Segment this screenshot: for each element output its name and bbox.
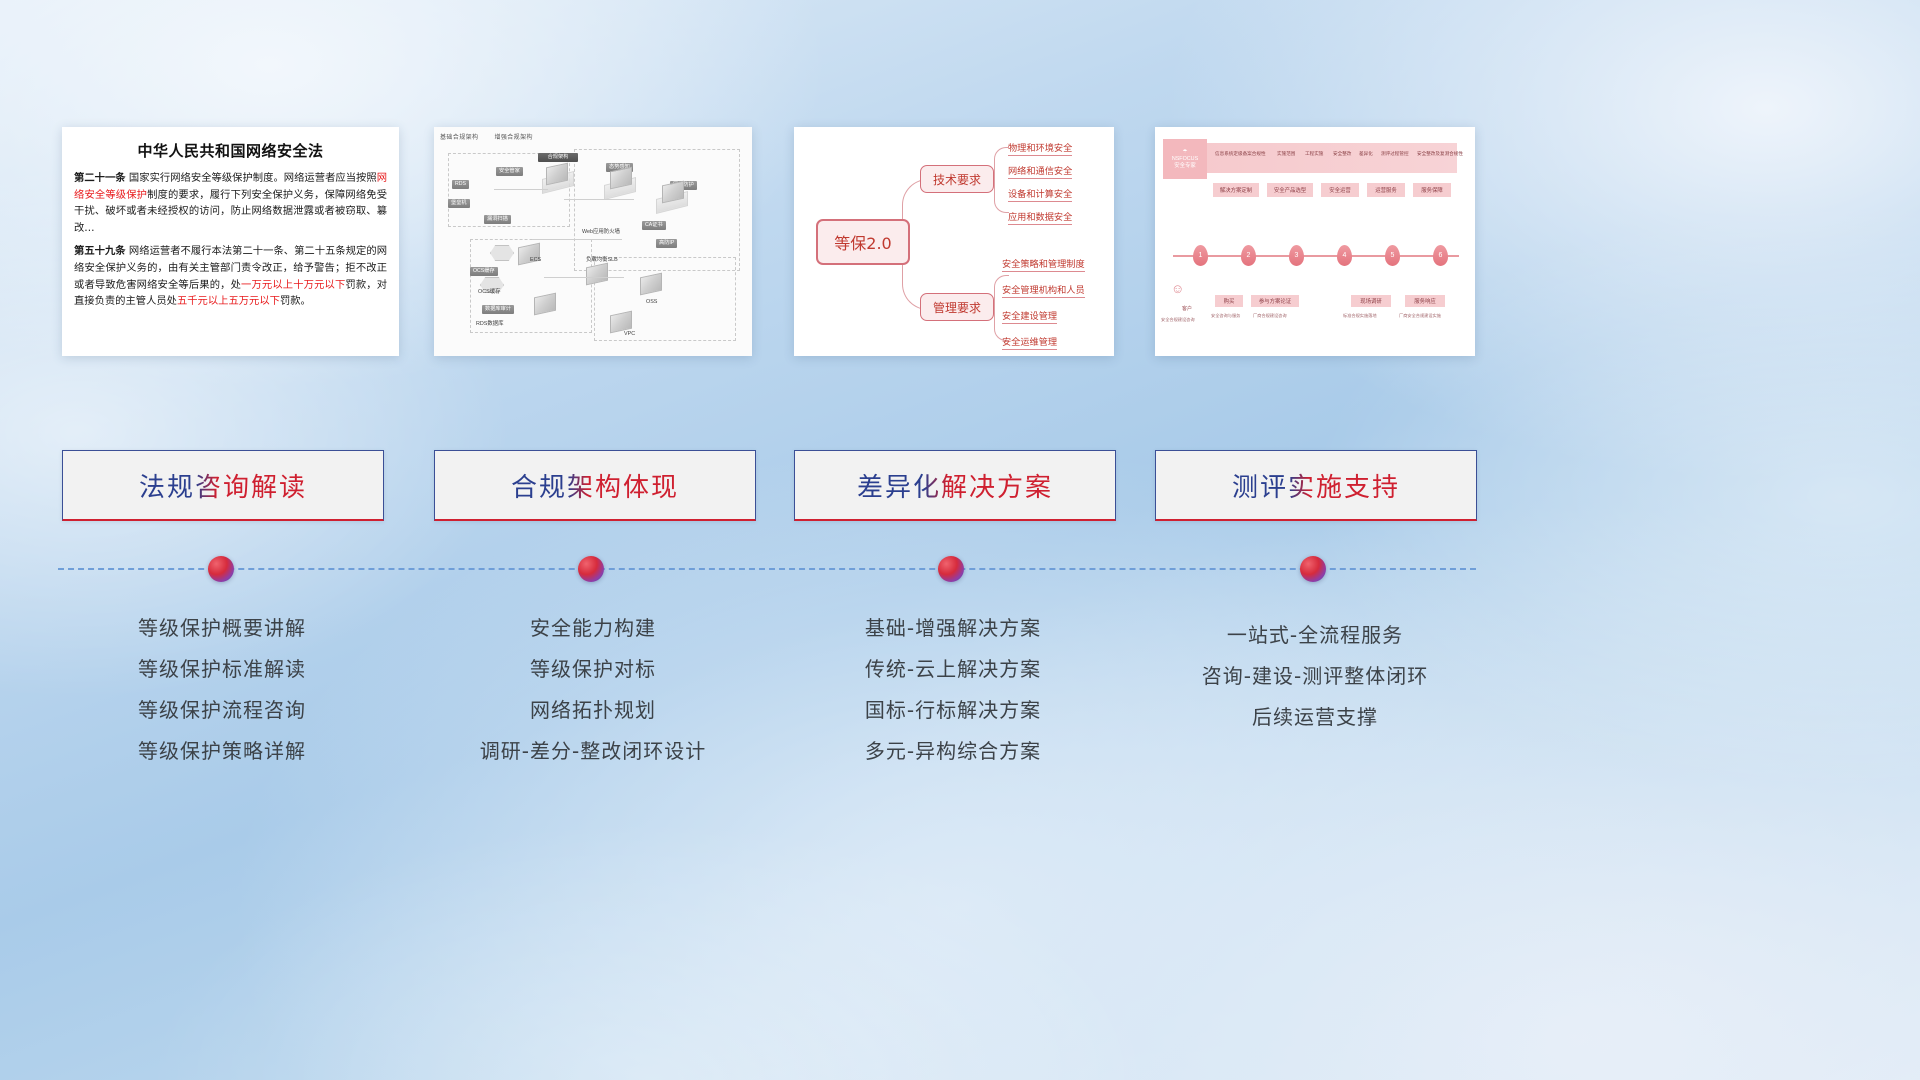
architecture-node-title: 合规架构 <box>538 153 578 162</box>
feature-list-1: 等级保护概要讲解 等级保护标准解读 等级保护流程咨询 等级保护策略详解 <box>57 608 387 772</box>
architecture-tag-1: 增强合规架构 <box>494 135 532 141</box>
header-box-1[interactable]: 法规咨询解读 <box>62 450 384 521</box>
roadmap-phase-1: 安全产品选型 <box>1267 183 1313 197</box>
list-item: 一站式-全流程服务 <box>1150 615 1480 656</box>
architecture-card: 基础合规架构 增强合规架构 合规架构 安全管家 态势感知 RDS 网络防护 堡垒… <box>434 127 752 356</box>
architecture-node-8: CA证书 <box>642 221 666 230</box>
roadmap-bottom-note-3: 厂商安全合规建设实施 <box>1399 313 1441 319</box>
roadmap-banner-item-4: 差异化 <box>1359 151 1373 157</box>
roadmap-customer-label: 客户 <box>1165 305 1209 312</box>
list-item: 基础-增强解决方案 <box>788 608 1118 649</box>
list-item: 等级保护概要讲解 <box>57 608 387 649</box>
roadmap-step-2[interactable]: 3 <box>1289 245 1304 266</box>
architecture-label-rds: RDS数据库 <box>476 319 504 327</box>
roadmap-bottom-tag-2: 现场调研 <box>1351 295 1391 307</box>
header-label-3: 差异化解决方案 <box>857 467 1053 504</box>
architecture-tag-0: 基础合规架构 <box>440 135 478 141</box>
list-item: 网络拓扑规划 <box>428 690 758 731</box>
architecture-node-4: 堡垒机 <box>448 199 470 208</box>
law-article-59-label: 第五十九条 <box>74 245 126 257</box>
roadmap-card: ☂ NSFOCUS 安全专家 信息系统定级备案合规性 实施范围 工程实施 安全整… <box>1155 127 1475 356</box>
mindmap-card: 等保2.0 技术要求 管理要求 物理和环境安全 网络和通信安全 设备和计算安全 … <box>794 127 1114 356</box>
header-label-1: 法规咨询解读 <box>139 467 307 504</box>
list-item: 咨询-建设-测评整体闭环 <box>1150 656 1480 697</box>
roadmap-step-5[interactable]: 6 <box>1433 245 1448 266</box>
roadmap-customer-note: 安全合规建设咨询 <box>1161 317 1195 323</box>
roadmap-phase-4: 服务保障 <box>1413 183 1451 197</box>
mindmap-curve-t0 <box>994 147 1009 179</box>
roadmap-banner <box>1173 143 1457 173</box>
mindmap-leaf-m2[interactable]: 安全建设管理 <box>1002 308 1057 324</box>
roadmap-step-4[interactable]: 5 <box>1385 245 1400 266</box>
architecture-link-0 <box>494 189 548 190</box>
mindmap-branch-technical[interactable]: 技术要求 <box>920 165 994 193</box>
roadmap-brand-line2: 安全专家 <box>1174 163 1196 170</box>
roadmap-banner-item-3: 安全整改 <box>1333 151 1351 157</box>
mindmap-curve-t1 <box>994 178 1009 213</box>
roadmap-bottom-tag-1: 参与方案论证 <box>1251 295 1299 307</box>
architecture-link-1 <box>564 199 634 200</box>
timeline-dot-4[interactable] <box>1300 556 1326 582</box>
architecture-node-13: 数据库审计 <box>482 305 514 314</box>
header-label-4: 测评实施支持 <box>1232 467 1400 504</box>
law-article-21-text-1: 国家实行网络安全等级保护制度。网络运营者应当按照 <box>126 172 377 184</box>
roadmap-banner-item-0: 信息系统定级备案合规性 <box>1215 151 1266 157</box>
roadmap-brand-line1: NSFOCUS <box>1172 156 1198 163</box>
feature-list-3: 基础-增强解决方案 传统-云上解决方案 国标-行标解决方案 多元-异构综合方案 <box>788 608 1118 772</box>
architecture-node-5: 漏洞扫描 <box>484 215 511 224</box>
roadmap-brand: ☂ NSFOCUS 安全专家 <box>1163 139 1207 179</box>
architecture-node-9: 高防IP <box>656 239 677 248</box>
mindmap-leaf-t3[interactable]: 应用和数据安全 <box>1008 209 1072 225</box>
roadmap-banner-item-1: 实施范围 <box>1277 151 1295 157</box>
list-item: 后续运营支撑 <box>1150 697 1480 738</box>
law-card-title: 中华人民共和国网络安全法 <box>74 140 387 161</box>
roadmap-bottom-tag-0: 购买 <box>1215 295 1243 307</box>
list-item: 传统-云上解决方案 <box>788 649 1118 690</box>
timeline-dot-2[interactable] <box>578 556 604 582</box>
law-article-59: 第五十九条 网络运营者不履行本法第二十一条、第二十五条规定的网络安全保护义务的，… <box>74 243 387 309</box>
architecture-label-ocs: OCS缓存 <box>478 287 500 295</box>
header-box-2[interactable]: 合规架构体现 <box>434 450 756 521</box>
architecture-node-0: 安全管家 <box>496 167 523 176</box>
architecture-tags: 基础合规架构 增强合规架构 <box>440 132 547 141</box>
architecture-link-3 <box>544 277 624 278</box>
architecture-diagram: 基础合规架构 增强合规架构 合规架构 安全管家 态势感知 RDS 网络防护 堡垒… <box>434 127 752 356</box>
list-item: 安全能力构建 <box>428 608 758 649</box>
list-item: 等级保护标准解读 <box>57 649 387 690</box>
mindmap: 等保2.0 技术要求 管理要求 物理和环境安全 网络和通信安全 设备和计算安全 … <box>794 127 1114 356</box>
roadmap-bottom-note-2: 标准合规实施落地 <box>1343 313 1377 319</box>
roadmap-customer-icon: ☺ <box>1171 281 1184 296</box>
roadmap-banner-item-6: 安全整改及复测合规性 <box>1417 151 1463 157</box>
roadmap-diagram: ☂ NSFOCUS 安全专家 信息系统定级备案合规性 实施范围 工程实施 安全整… <box>1155 127 1475 356</box>
architecture-label-waf: Web应用防火墙 <box>582 227 620 235</box>
mindmap-leaf-m0[interactable]: 安全策略和管理制度 <box>1002 256 1085 272</box>
list-item: 多元-异构综合方案 <box>788 731 1118 772</box>
roadmap-phase-3: 运营服务 <box>1367 183 1405 197</box>
architecture-label-slb: 负载均衡SLB <box>586 255 618 263</box>
mindmap-leaf-m3[interactable]: 安全运维管理 <box>1002 334 1057 350</box>
mindmap-root[interactable]: 等保2.0 <box>816 219 910 265</box>
law-article-59-highlight-1: 一万元以上十万元以下 <box>241 279 345 291</box>
architecture-node-2: RDS <box>452 180 469 189</box>
roadmap-banner-item-2: 工程实施 <box>1305 151 1323 157</box>
roadmap-bottom-note-0: 安全咨询与服务 <box>1211 313 1240 319</box>
roadmap-step-3[interactable]: 4 <box>1337 245 1352 266</box>
mindmap-leaf-t0[interactable]: 物理和环境安全 <box>1008 140 1072 156</box>
mindmap-leaf-t1[interactable]: 网络和通信安全 <box>1008 163 1072 179</box>
roadmap-banner-item-5: 测评过程管控 <box>1381 151 1409 157</box>
list-item: 等级保护策略详解 <box>57 731 387 772</box>
roadmap-step-1[interactable]: 2 <box>1241 245 1256 266</box>
list-item: 等级保护对标 <box>428 649 758 690</box>
architecture-label-vpc: VPC <box>624 331 635 337</box>
law-article-59-text-3: 罚款。 <box>280 295 311 307</box>
architecture-label-oss: OSS <box>646 299 657 305</box>
mindmap-leaf-t2[interactable]: 设备和计算安全 <box>1008 186 1072 202</box>
law-article-59-highlight-2: 五千元以上五万元以下 <box>177 295 280 307</box>
law-card: 中华人民共和国网络安全法 第二十一条 国家实行网络安全等级保护制度。网络运营者应… <box>62 127 399 356</box>
timeline-dashed-line <box>58 568 1476 570</box>
law-card-body: 中华人民共和国网络安全法 第二十一条 国家实行网络安全等级保护制度。网络运营者应… <box>62 127 399 356</box>
mindmap-branch-management[interactable]: 管理要求 <box>920 293 994 321</box>
timeline-dot-3[interactable] <box>938 556 964 582</box>
architecture-label-ecs: ECS <box>530 257 541 263</box>
architecture-node-11: OCS缓存 <box>470 267 498 276</box>
roadmap-step-0[interactable]: 1 <box>1193 245 1208 266</box>
list-item: 国标-行标解决方案 <box>788 690 1118 731</box>
roadmap-phase-2: 安全运营 <box>1321 183 1359 197</box>
feature-list-4: 一站式-全流程服务 咨询-建设-测评整体闭环 后续运营支撑 <box>1150 615 1480 738</box>
law-article-21-label: 第二十一条 <box>74 172 126 184</box>
mindmap-leaf-m1[interactable]: 安全管理机构和人员 <box>1002 282 1085 298</box>
header-box-3[interactable]: 差异化解决方案 <box>794 450 1116 521</box>
list-item: 等级保护流程咨询 <box>57 690 387 731</box>
header-box-4[interactable]: 测评实施支持 <box>1155 450 1477 521</box>
timeline-dot-1[interactable] <box>208 556 234 582</box>
roadmap-bottom-note-1: 厂商合规建设咨询 <box>1253 313 1287 319</box>
roadmap-brand-icon: ☂ <box>1183 149 1188 156</box>
architecture-link-2 <box>532 239 622 240</box>
list-item: 调研-差分-整改闭环设计 <box>428 731 758 772</box>
law-article-21: 第二十一条 国家实行网络安全等级保护制度。网络运营者应当按照网络安全等级保护制度… <box>74 170 387 236</box>
header-label-2: 合规架构体现 <box>511 467 679 504</box>
roadmap-axis <box>1173 255 1459 257</box>
roadmap-bottom-tag-3: 服务响应 <box>1405 295 1445 307</box>
roadmap-phase-0: 解决方案定制 <box>1213 183 1259 197</box>
feature-list-2: 安全能力构建 等级保护对标 网络拓扑规划 调研-差分-整改闭环设计 <box>428 608 758 772</box>
